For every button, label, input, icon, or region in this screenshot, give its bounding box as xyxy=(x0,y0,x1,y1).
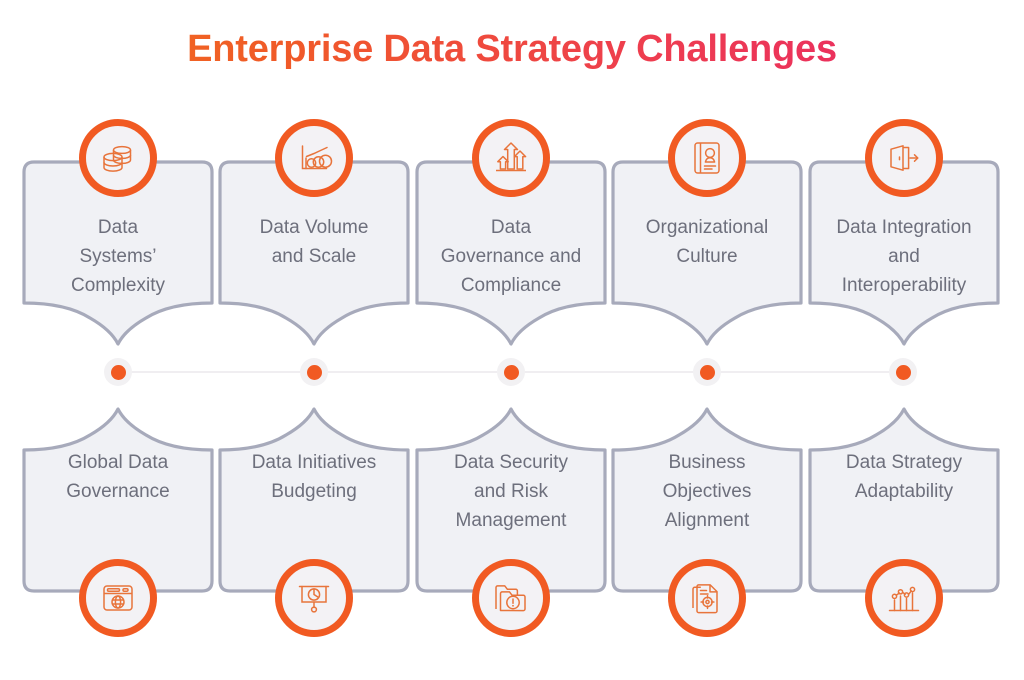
column-5: Data Integration and Interoperability Da… xyxy=(806,0,1002,680)
card-bottom-1-label: Global Data Governance xyxy=(20,448,216,506)
browser-globe-icon xyxy=(98,578,138,618)
card-top-3-label: Data Governance and Compliance xyxy=(413,213,609,300)
database-stack-icon xyxy=(98,138,138,178)
icon-badge-bottom-5[interactable] xyxy=(865,559,943,637)
icon-badge-bottom-1[interactable] xyxy=(79,559,157,637)
icon-badge-bottom-2[interactable] xyxy=(275,559,353,637)
card-top-2-label: Data Volume and Scale xyxy=(216,213,412,271)
icon-badge-top-2[interactable] xyxy=(275,119,353,197)
icon-badge-top-3[interactable] xyxy=(472,119,550,197)
analytics-bars-line-icon xyxy=(884,578,924,618)
documents-target-icon xyxy=(687,578,727,618)
card-bottom-3-label: Data Security and Risk Management xyxy=(413,448,609,535)
folder-alert-icon xyxy=(491,578,531,618)
icon-badge-top-5[interactable] xyxy=(865,119,943,197)
infographic-canvas: Enterprise Data Strategy Challenges Data… xyxy=(0,0,1024,680)
column-3: Data Governance and Compliance Data Secu… xyxy=(413,0,609,680)
bar-chart-trend-icon xyxy=(294,138,334,178)
card-top-1-label: Data Systems’ Complexity xyxy=(20,213,216,300)
icon-badge-top-1[interactable] xyxy=(79,119,157,197)
icon-badge-top-4[interactable] xyxy=(668,119,746,197)
door-exit-arrow-icon xyxy=(884,138,924,178)
icon-badge-bottom-3[interactable] xyxy=(472,559,550,637)
card-top-4-label: Organizational Culture xyxy=(609,213,805,271)
column-2: Data Volume and Scale Data Initiatives B… xyxy=(216,0,412,680)
card-bottom-4-label: Business Objectives Alignment xyxy=(609,448,805,535)
column-1: Data Systems’ Complexity Global Data Gov… xyxy=(20,0,216,680)
up-arrows-icon xyxy=(491,138,531,178)
column-4: Organizational Culture Business Objectiv… xyxy=(609,0,805,680)
card-bottom-2-label: Data Initiatives Budgeting xyxy=(216,448,412,506)
card-bottom-5-label: Data Strategy Adaptability xyxy=(806,448,1002,506)
presentation-pie-chart-icon xyxy=(294,578,334,618)
card-top-5-label: Data Integration and Interoperability xyxy=(806,213,1002,300)
id-card-person-icon xyxy=(687,138,727,178)
icon-badge-bottom-4[interactable] xyxy=(668,559,746,637)
